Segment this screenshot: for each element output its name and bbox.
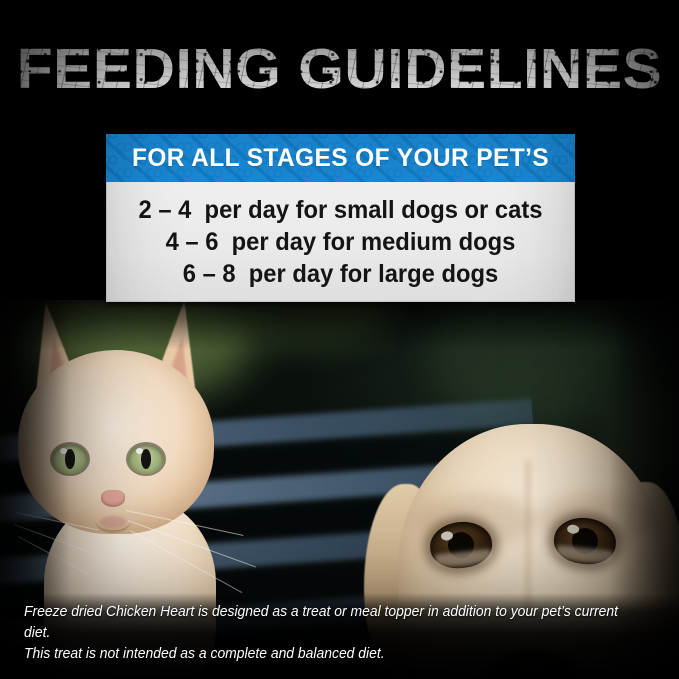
card-body: 2 – 4 per day for small dogs or cats 4 –… — [106, 182, 575, 302]
cat-lip — [100, 516, 126, 528]
card-banner-label: FOR ALL STAGES OF YOUR PET’S LIFE — [111, 134, 571, 182]
card-banner: FOR ALL STAGES OF YOUR PET’S LIFE — [106, 134, 575, 182]
dosage-line-large: 6 – 8 per day for large dogs — [119, 258, 563, 290]
feeding-guidelines-card: FOR ALL STAGES OF YOUR PET’S LIFE 2 – 4 … — [106, 134, 575, 302]
cat-nose — [101, 490, 125, 507]
footer-disclaimer: Freeze dried Chicken Heart is designed a… — [24, 602, 638, 665]
cat-eye-gleam — [136, 448, 143, 454]
page-title-text: FEEDING GUIDELINES — [17, 37, 662, 101]
footer-line-2: This treat is not intended as a complete… — [24, 644, 638, 665]
cat-eye-right — [128, 444, 164, 474]
page-title: FEEDING GUIDELINES — [0, 40, 679, 98]
page-title-text-wrap: FEEDING GUIDELINES — [17, 40, 662, 98]
product-feeding-guidelines-poster: FEEDING GUIDELINES FOR ALL STAGES OF YOU… — [0, 0, 679, 679]
footer-line-1: Freeze dried Chicken Heart is designed a… — [24, 602, 638, 644]
dosage-line-small: 2 – 4 per day for small dogs or cats — [119, 194, 563, 226]
dosage-line-medium: 4 – 6 per day for medium dogs — [119, 226, 563, 258]
